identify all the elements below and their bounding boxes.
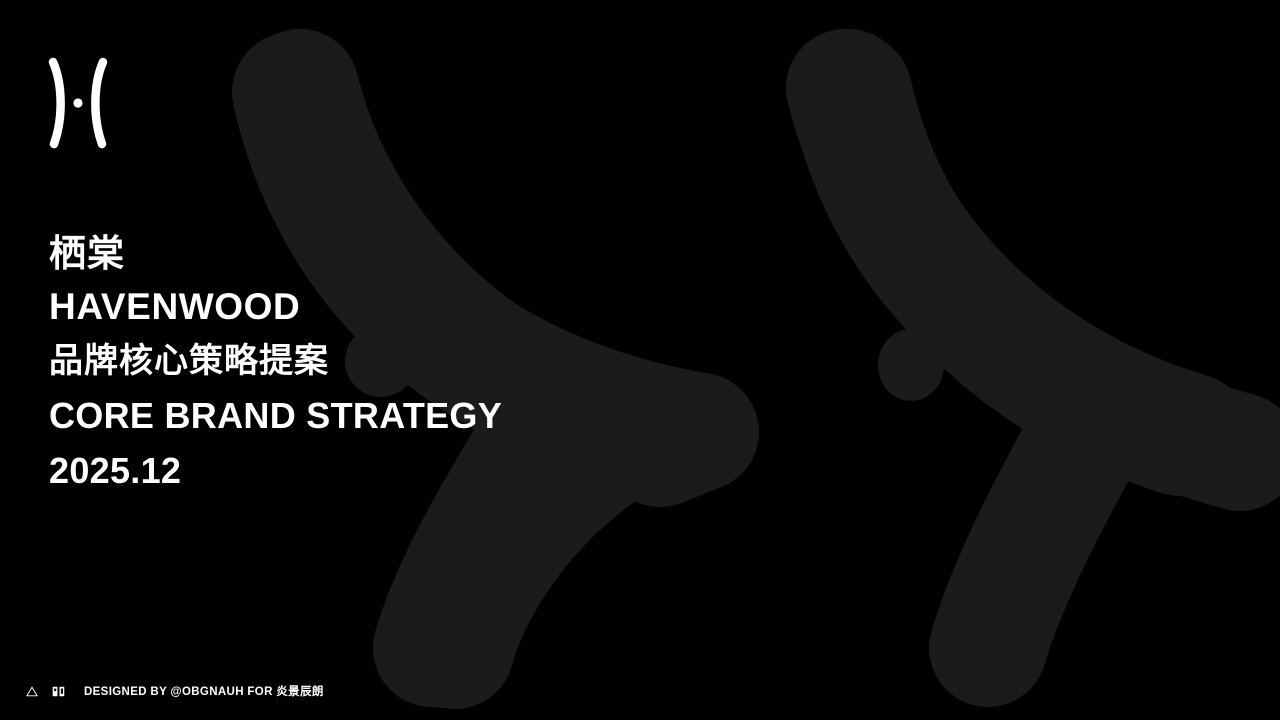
decor-stroke-upper-right — [845, 88, 1190, 432]
decor-arc-right-outer — [852, 92, 1180, 436]
logo-stroke-right — [95, 62, 103, 144]
title-block: 栖棠 HAVENWOOD 品牌核心策略提案 CORE BRAND STRATEG… — [49, 228, 829, 498]
triangle-icon — [26, 686, 38, 697]
subject-en: CORE BRAND STRATEGY — [49, 388, 829, 444]
brand-name-en: HAVENWOOD — [49, 280, 829, 334]
decor-dot-centre — [878, 329, 944, 401]
logo-stroke-left — [53, 62, 61, 144]
subject-cn: 品牌核心策略提案 — [49, 334, 829, 388]
presentation-date: 2025.12 — [49, 444, 829, 498]
footer-credit-bar: DESIGNED BY @OBGNAUH FOR 炎景辰朗 — [26, 683, 324, 699]
logo-dot — [73, 98, 82, 107]
havenwood-logo-icon — [41, 55, 115, 151]
decor-limb-d — [848, 88, 1240, 452]
footer-credit-text: DESIGNED BY @OBGNAUH FOR 炎景辰朗 — [84, 683, 324, 699]
bo-studio-logo-icon — [52, 686, 66, 697]
presentation-slide: 栖棠 HAVENWOOD 品牌核心策略提案 CORE BRAND STRATEG… — [0, 0, 1280, 720]
decor-limb-e — [988, 410, 1100, 648]
brand-name-cn: 栖棠 — [49, 228, 829, 280]
